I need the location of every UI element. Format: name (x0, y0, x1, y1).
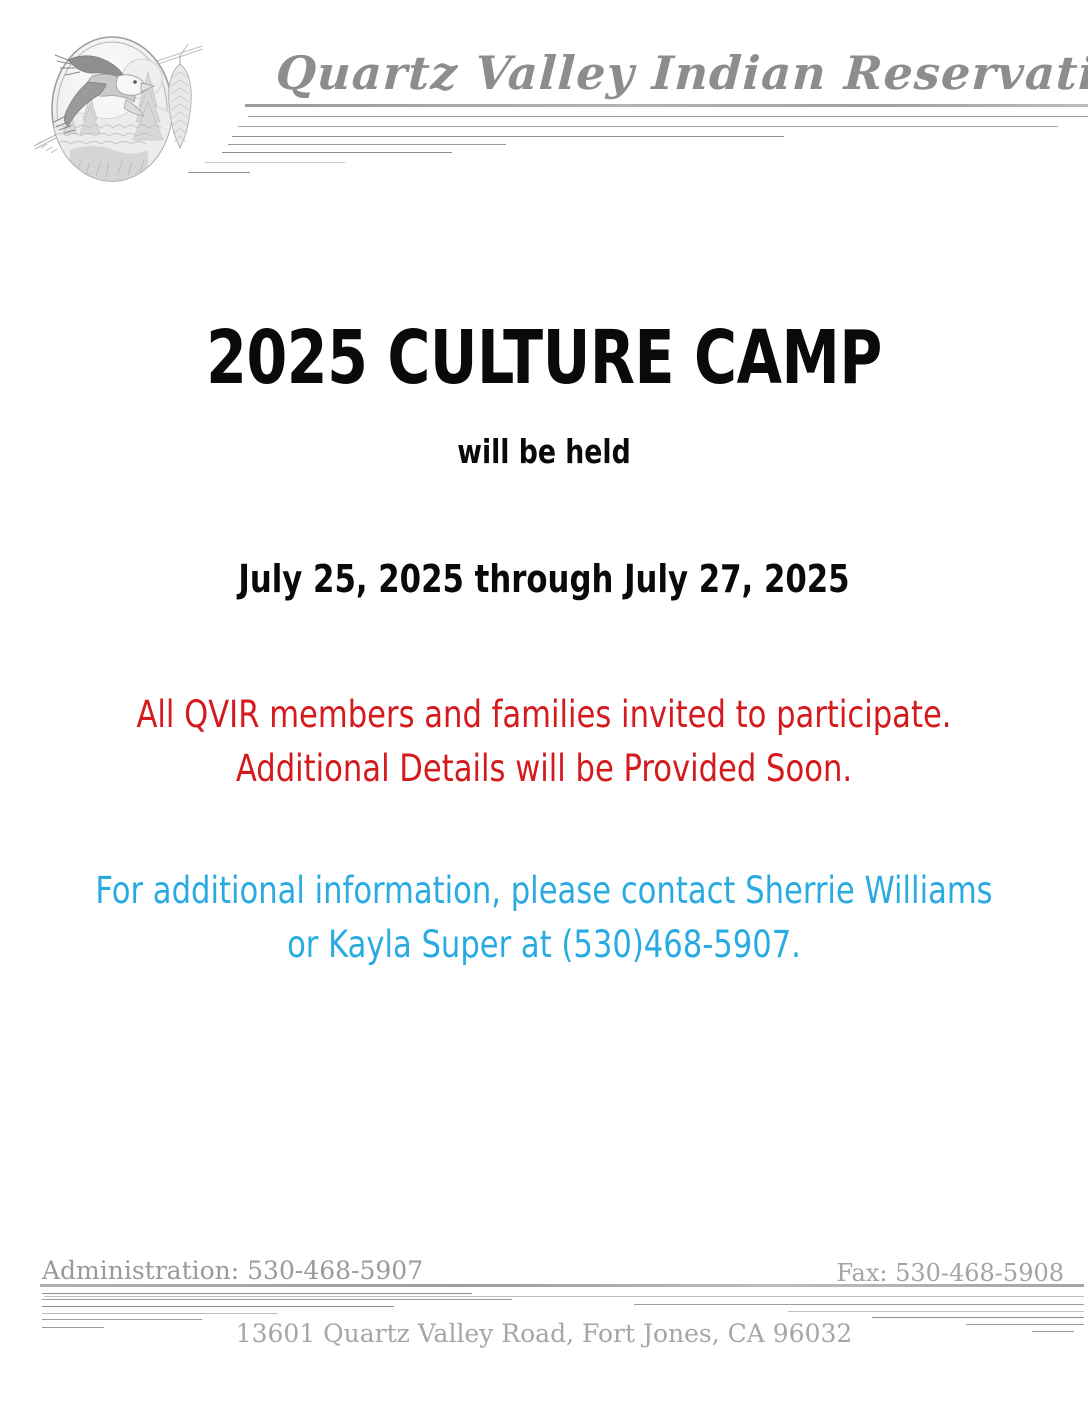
letterhead-rule-1 (245, 104, 1088, 107)
letterhead-footer: Administration: 530-468-5907 Fax: 530-46… (0, 1240, 1088, 1408)
footer-rule-left-4 (42, 1313, 278, 1314)
flyer-dateline: July 25, 2025 through July 27, 2025 (54, 556, 1033, 602)
footer-rule-main (40, 1284, 1084, 1287)
footer-street-address: 13601 Quartz Valley Road, Fort Jones, CA… (0, 1318, 1088, 1350)
letterhead-rule-7 (205, 162, 345, 163)
footer-rule-right-3 (788, 1311, 1084, 1312)
footer-rule-right-2 (634, 1304, 1084, 1305)
invitation-block: All QVIR members and families invited to… (44, 688, 1045, 796)
contact-line-1: For additional information, please conta… (44, 864, 1045, 918)
letterhead-rule-2 (248, 116, 1088, 117)
letterhead-rule-4 (232, 136, 784, 137)
letterhead: Quartz Valley Indian Reservation (0, 0, 1088, 210)
contact-line-2: or Kayla Super at (530)468-5907. (44, 918, 1045, 972)
flyer-subheadline: will be held (54, 432, 1033, 472)
flyer-headline: 2025 CULTURE CAMP (65, 316, 1022, 400)
footer-administration-phone: Administration: 530-468-5907 (42, 1256, 423, 1286)
letterhead-rule-6 (222, 152, 452, 153)
invitation-line-2: Additional Details will be Provided Soon… (44, 742, 1045, 796)
organization-name: Quartz Valley Indian Reservation (274, 42, 1037, 104)
contact-block: For additional information, please conta… (44, 864, 1045, 972)
letterhead-rules (0, 104, 1088, 176)
letterhead-rule-3 (238, 126, 1058, 127)
invitation-line-1: All QVIR members and families invited to… (44, 688, 1045, 742)
footer-rule-left-1 (42, 1293, 472, 1294)
footer-rule-left-3 (42, 1306, 394, 1307)
footer-rule-right-1 (44, 1296, 1084, 1297)
letterhead-rule-8 (188, 172, 250, 173)
footer-rule-left-2 (42, 1299, 512, 1300)
flyer-page: Quartz Valley Indian Reservation 2025 CU… (0, 0, 1088, 1408)
letterhead-rule-5 (228, 144, 506, 145)
